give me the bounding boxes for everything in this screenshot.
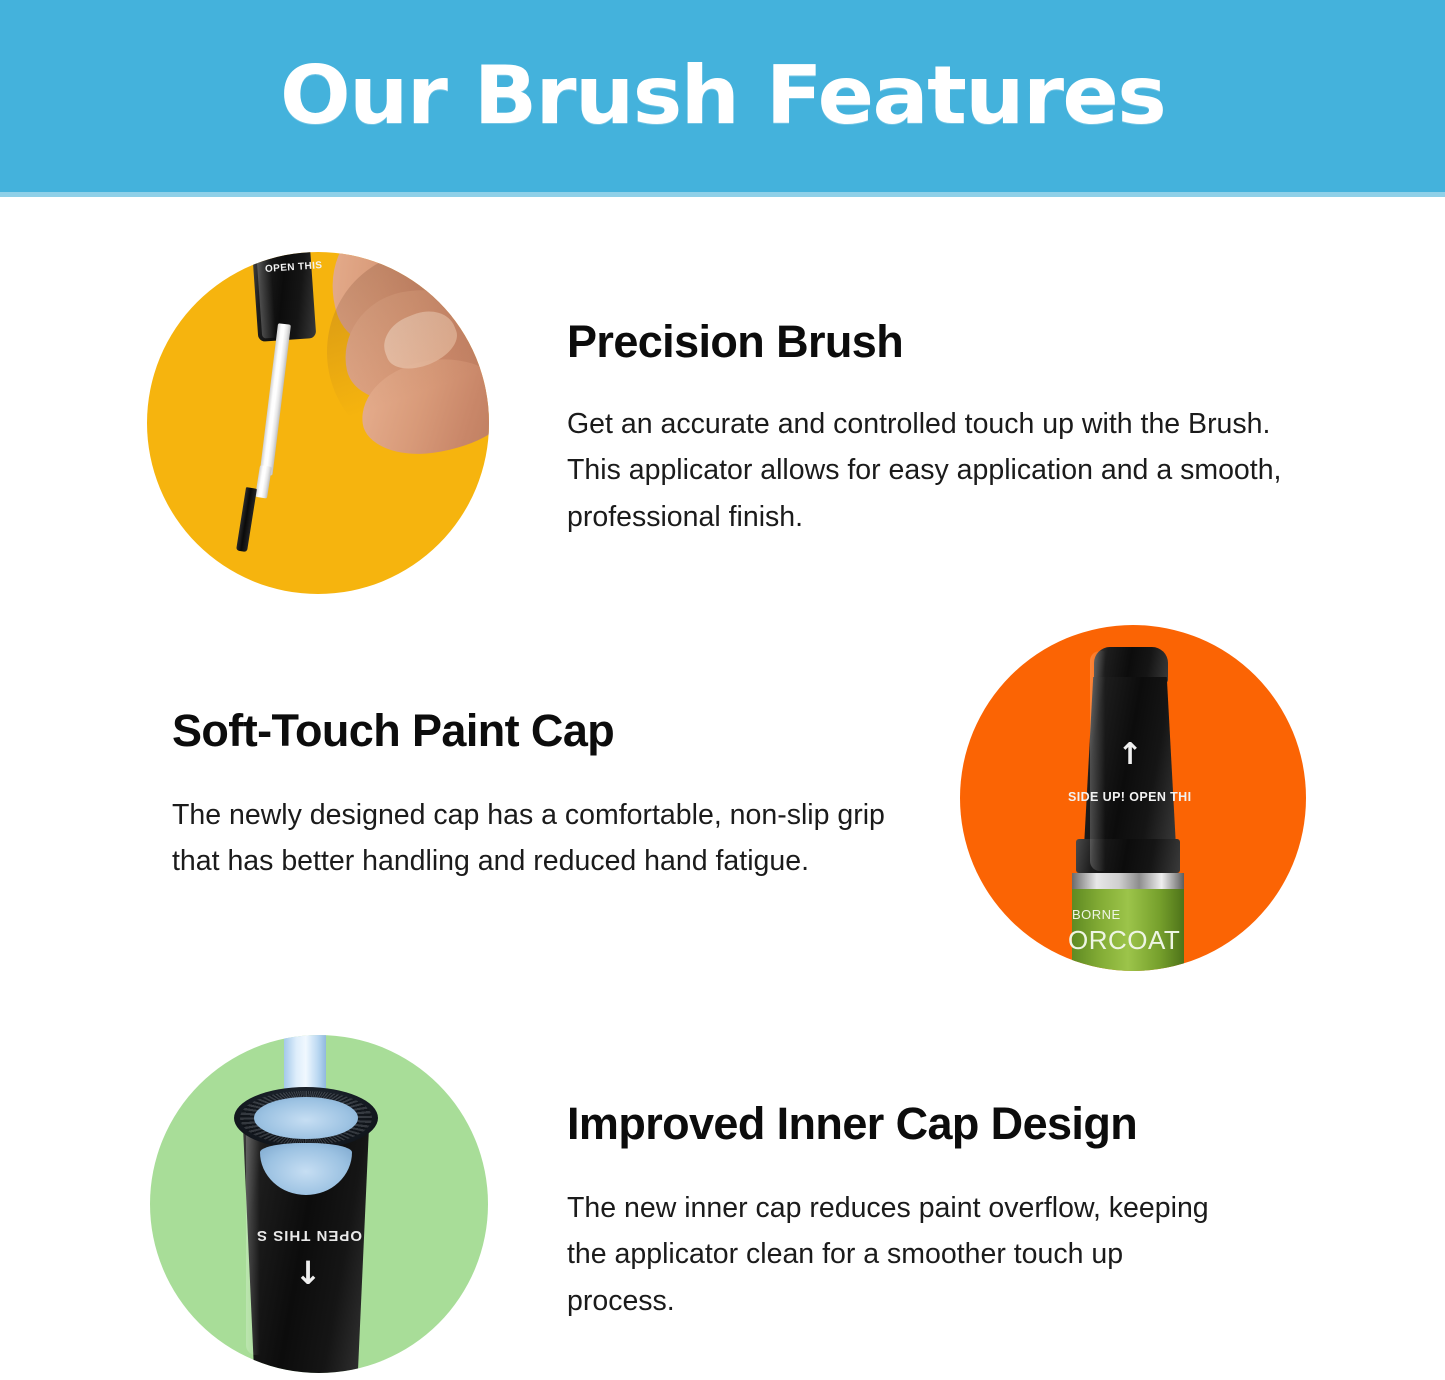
inner-cap-photo: OPEN THIS S ↓ xyxy=(150,1035,488,1373)
feature-text-improved-inner-cap-design: Improved Inner Cap Design The new inner … xyxy=(567,1100,1267,1324)
inner-cap-opening xyxy=(254,1097,358,1139)
brush-features-infographic: Our Brush Features OPEN THIS xyxy=(0,0,1445,1380)
arrow-down-icon: ↓ xyxy=(268,1257,348,1289)
feature-image-improved-inner-cap-design: OPEN THIS S ↓ xyxy=(150,1035,488,1373)
feature-improved-inner-cap-design: OPEN THIS S ↓ Improved Inner Cap Design … xyxy=(0,0,1445,1380)
feature-body-improved-inner-cap-design: The new inner cap reduces paint overflow… xyxy=(567,1185,1227,1323)
feature-title-improved-inner-cap-design: Improved Inner Cap Design xyxy=(567,1100,1267,1147)
inverted-cap-open-this-text: OPEN THIS S xyxy=(256,1227,362,1244)
